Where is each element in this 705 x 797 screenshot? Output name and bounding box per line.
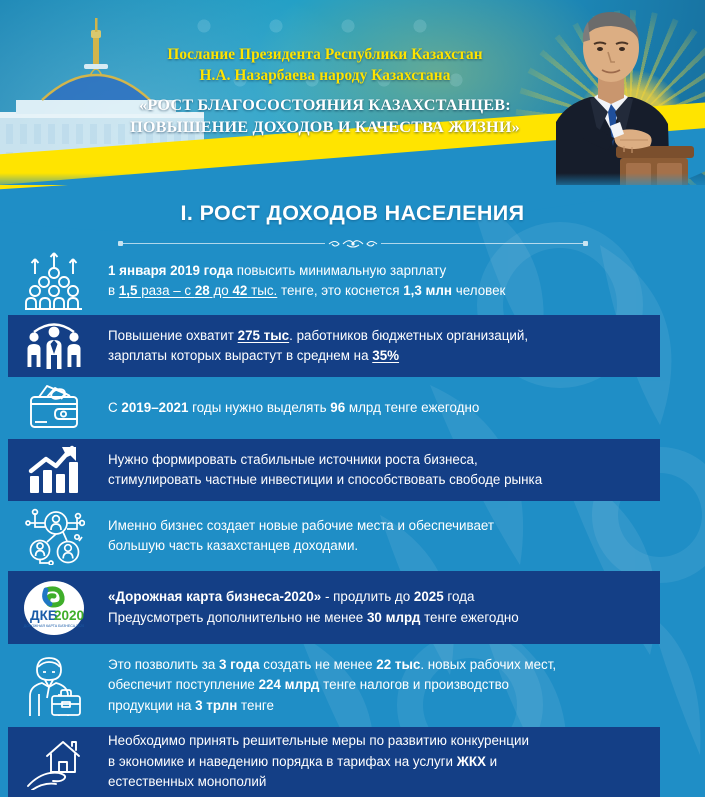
text-run-bold: 1 января 2019 года bbox=[108, 263, 233, 278]
text-run-bold: 3 трлн bbox=[195, 698, 237, 713]
text-run: Нужно формировать стабильные источники р… bbox=[108, 452, 478, 467]
header-title-line-2: ПОВЫШЕНИЕ ДОХОДОВ И КАЧЕСТВА ЖИЗНИ» bbox=[90, 116, 560, 138]
text-run: и bbox=[486, 754, 497, 769]
header-text-block: Послание Президента Республики Казахстан… bbox=[90, 44, 560, 138]
text-run: естественных монополий bbox=[108, 774, 266, 789]
fact-row-6-icon-cell: ДКБ 2020 ДОРОЖНАЯ КАРТА БИЗНЕСА 2020 bbox=[0, 578, 108, 638]
text-run: создать не менее bbox=[260, 657, 377, 672]
fact-row-4: Нужно формировать стабильные источники р… bbox=[0, 439, 705, 501]
content-area: I. РОСТ ДОХОДОВ НАСЕЛЕНИЯ bbox=[0, 185, 705, 797]
text-run: стимулировать частные инвестиции и спосо… bbox=[108, 472, 542, 487]
text-run: раза bbox=[137, 283, 169, 298]
text-run-bold: 30 млрд bbox=[367, 610, 420, 625]
text-run-bold: 224 млрд bbox=[259, 677, 320, 692]
fact-row-1: 1 января 2019 года повысить минимальную … bbox=[0, 247, 705, 315]
fact-row-2-icon-cell bbox=[0, 321, 108, 371]
header-line-2: Н.А. Назарбаева народу Казахстана bbox=[90, 65, 560, 86]
text-run: года bbox=[444, 589, 475, 604]
fact-row-7-line-1: Это позволить за 3 года создать не менее… bbox=[108, 655, 556, 676]
fact-row-6-text: «Дорожная карта бизнеса-2020» - продлить… bbox=[108, 587, 533, 628]
header-title-line-1: «РОСТ БЛАГОСОСТОЯНИЯ КАЗАХСТАНЦЕВ: bbox=[90, 94, 560, 116]
text-run: годы нужно выделять bbox=[188, 400, 330, 415]
text-run-bold: ЖКХ bbox=[457, 754, 486, 769]
text-run-bold: 2019–2021 bbox=[121, 400, 188, 415]
fact-row-4-icon-cell bbox=[0, 445, 108, 495]
text-run: до bbox=[210, 283, 233, 298]
fact-row-1-icon-cell bbox=[0, 252, 108, 310]
fact-row-5-text: Именно бизнес создает новые рабочие мест… bbox=[108, 516, 508, 557]
text-run: - продлить до bbox=[321, 589, 414, 604]
fact-row-7-line-3: продукции на 3 трлн тенге bbox=[108, 696, 556, 717]
text-run: человек bbox=[452, 283, 505, 298]
divider-flourish-icon bbox=[325, 237, 381, 249]
fact-row-7-line-2: обеспечит поступление 224 млрд тенге нал… bbox=[108, 675, 556, 696]
text-run: с bbox=[184, 283, 194, 298]
text-run-bold: 275 тыс bbox=[238, 328, 290, 343]
text-run-bold: 2025 bbox=[414, 589, 444, 604]
fact-row-4-line-2: стимулировать частные инвестиции и спосо… bbox=[108, 470, 542, 491]
text-run-bold: 3 года bbox=[219, 657, 260, 672]
growth-chart-icon bbox=[26, 445, 82, 495]
businessman-briefcase-icon bbox=[23, 654, 85, 718]
text-run: повысить минимальную зарплату bbox=[233, 263, 446, 278]
text-run: тенге ежегодно bbox=[420, 610, 518, 625]
dkb-2020-logo-icon: ДКБ 2020 ДОРОЖНАЯ КАРТА БИЗНЕСА 2020 bbox=[21, 578, 87, 638]
page-title: I. РОСТ ДОХОДОВ НАСЕЛЕНИЯ bbox=[0, 201, 705, 226]
fact-row-3-text: С 2019–2021 годы нужно выделять 96 млрд … bbox=[108, 398, 493, 419]
text-run: С bbox=[108, 400, 121, 415]
fact-row-2-line-2: зарплаты которых вырастут в среднем на 3… bbox=[108, 346, 528, 367]
text-run-bold: 1,5 bbox=[119, 283, 138, 298]
text-run: . новых рабочих мест, bbox=[420, 657, 556, 672]
text-run: тенге, это коснется bbox=[277, 283, 403, 298]
text-run: тыс. bbox=[247, 283, 277, 298]
fact-row-5: Именно бизнес создает новые рабочие мест… bbox=[0, 501, 705, 571]
fact-row-1-line-1: 1 января 2019 года повысить минимальную … bbox=[108, 261, 505, 282]
divider-cap-right bbox=[583, 241, 588, 246]
fact-row-4-line-1: Нужно формировать стабильные источники р… bbox=[108, 450, 542, 471]
fact-row-7-icon-cell bbox=[0, 654, 108, 718]
fact-row-5-line-1: Именно бизнес создает новые рабочие мест… bbox=[108, 516, 494, 537]
text-run: Это позволить за bbox=[108, 657, 219, 672]
text-run: большую часть казахстанцев доходами. bbox=[108, 538, 358, 553]
fact-row-3: С 2019–2021 годы нужно выделять 96 млрд … bbox=[0, 377, 705, 439]
text-run: в bbox=[108, 283, 119, 298]
text-run: продукции на bbox=[108, 698, 195, 713]
fact-row-8-text: Необходимо принять решительные меры по р… bbox=[108, 731, 543, 793]
text-run: . работников бюджетных организаций, bbox=[289, 328, 528, 343]
fact-row-8-line-3: естественных монополий bbox=[108, 772, 529, 793]
ornamental-divider bbox=[118, 236, 588, 250]
text-run-bold: 22 тыс bbox=[376, 657, 420, 672]
crowd-growth-icon bbox=[23, 252, 85, 310]
text-run: – bbox=[170, 283, 185, 298]
text-run: Необходимо принять решительные меры по р… bbox=[108, 733, 529, 748]
text-run-bold: «Дорожная карта бизнеса-2020» bbox=[108, 589, 321, 604]
people-network-icon bbox=[23, 507, 85, 565]
fact-row-3-icon-cell bbox=[0, 383, 108, 433]
fact-row-4-text: Нужно формировать стабильные источники р… bbox=[108, 450, 556, 491]
text-run: Предусмотреть дополнительно не менее bbox=[108, 610, 367, 625]
fact-row-8: Необходимо принять решительные меры по р… bbox=[0, 727, 705, 797]
fact-row-7-text: Это позволить за 3 года создать не менее… bbox=[108, 655, 570, 717]
hand-house-icon bbox=[22, 734, 86, 790]
fact-row-1-line-2: в 1,5 раза – с 28 до 42 тыс. тенге, это … bbox=[108, 281, 505, 302]
fact-row-8-line-2: в экономике и наведению порядка в тарифа… bbox=[108, 752, 529, 773]
header-line-1: Послание Президента Республики Казахстан bbox=[90, 44, 560, 65]
text-run: тенге налогов и производство bbox=[319, 677, 509, 692]
text-run-bold: 42 bbox=[232, 283, 247, 298]
infographic-poster: Послание Президента Республики Казахстан… bbox=[0, 0, 705, 797]
text-run: Именно бизнес создает новые рабочие мест… bbox=[108, 518, 494, 533]
fact-row-6-line-1: «Дорожная карта бизнеса-2020» - продлить… bbox=[108, 587, 519, 608]
fact-row-2: Повышение охватит 275 тыс. работников бю… bbox=[0, 315, 705, 377]
fact-row-1-text: 1 января 2019 года повысить минимальную … bbox=[108, 261, 519, 302]
text-run: Повышение охватит bbox=[108, 328, 238, 343]
text-run: зарплаты которых вырастут в среднем на bbox=[108, 348, 372, 363]
text-run-bold: 28 bbox=[195, 283, 210, 298]
fact-row-3-line-1: С 2019–2021 годы нужно выделять 96 млрд … bbox=[108, 398, 479, 419]
fact-row-5-icon-cell bbox=[0, 507, 108, 565]
fact-row-8-icon-cell bbox=[0, 734, 108, 790]
header-banner: Послание Президента Республики Казахстан… bbox=[0, 0, 705, 190]
text-run: млрд тенге ежегодно bbox=[345, 400, 479, 415]
fact-row-2-text: Повышение охватит 275 тыс. работников бю… bbox=[108, 326, 542, 367]
text-run: в экономике и наведению порядка в тарифа… bbox=[108, 754, 457, 769]
wallet-icon bbox=[25, 383, 83, 433]
dkb-caption-text: ДОРОЖНАЯ КАРТА БИЗНЕСА 2020 bbox=[24, 624, 84, 628]
text-run-bold: 35% bbox=[372, 348, 399, 363]
fact-row-7: Это позволить за 3 года создать не менее… bbox=[0, 644, 705, 727]
text-run-bold: 96 bbox=[330, 400, 345, 415]
header-fade bbox=[0, 150, 705, 190]
divider-line-left bbox=[123, 243, 325, 244]
fact-row-6-line-2: Предусмотреть дополнительно не менее 30 … bbox=[108, 608, 519, 629]
three-people-icon bbox=[24, 321, 84, 371]
fact-row-8-line-1: Необходимо принять решительные меры по р… bbox=[108, 731, 529, 752]
dkb-year-text: 2020 bbox=[54, 608, 84, 623]
fact-row-5-line-2: большую часть казахстанцев доходами. bbox=[108, 536, 494, 557]
fact-row-6: ДКБ 2020 ДОРОЖНАЯ КАРТА БИЗНЕСА 2020 «До… bbox=[0, 571, 705, 644]
text-run-bold: 1,3 млн bbox=[403, 283, 452, 298]
text-run: тенге bbox=[237, 698, 274, 713]
fact-row-2-line-1: Повышение охватит 275 тыс. работников бю… bbox=[108, 326, 528, 347]
divider-line-right bbox=[381, 243, 583, 244]
text-run: обеспечит поступление bbox=[108, 677, 259, 692]
